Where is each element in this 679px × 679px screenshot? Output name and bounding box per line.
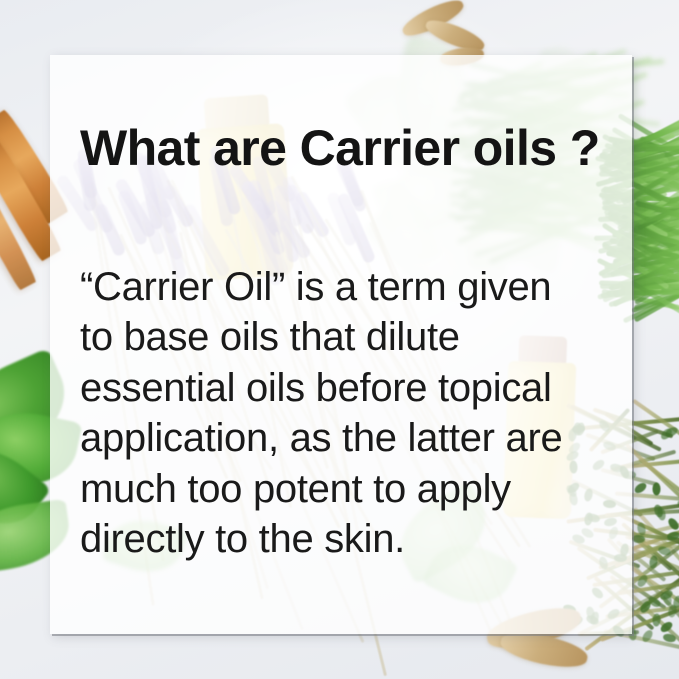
body-line: application, as the latter are [80,413,626,463]
thyme-leaf [652,483,660,496]
text-layer: What are Carrier oils ? “Carrier Oil” is… [50,55,632,634]
body-line: “Carrier Oil” is a term given [80,262,626,312]
thyme-leaf [648,555,658,569]
infographic-image: What are Carrier oils ? “Carrier Oil” is… [0,0,679,679]
thyme-leaf [632,534,645,543]
thyme-leaf [652,613,661,627]
page-title: What are Carrier oils ? [80,123,620,173]
body-line: directly to the skin. [80,514,626,564]
body-line: essential oils before topical [80,363,626,413]
body-line: to base oils that dilute [80,312,626,362]
body-line: much too potent to apply [80,464,626,514]
body-paragraph: “Carrier Oil” is a term given to base oi… [80,262,626,564]
